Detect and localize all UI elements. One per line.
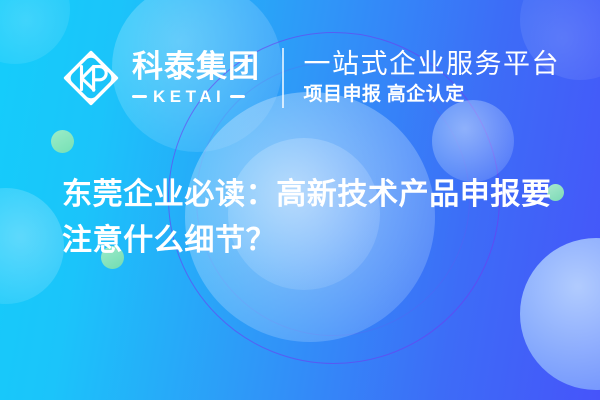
header-divider — [282, 48, 284, 108]
headline-title: 东莞企业必读：高新技术产品申报要注意什么细节？ — [62, 172, 562, 263]
ketai-kp-diamond-logo-icon — [62, 49, 120, 107]
wordmark-rule-left — [132, 95, 147, 98]
wordmark: 科泰集团 KETAI — [132, 51, 260, 105]
company-name-cn: 科泰集团 — [132, 51, 260, 82]
tagline-block: 一站式企业服务平台 项目申报 高企认定 — [304, 49, 561, 107]
tagline-sub: 项目申报 高企认定 — [304, 84, 561, 107]
decor-circle-left-edge — [0, 188, 64, 304]
company-name-en-row: KETAI — [132, 88, 260, 105]
wordmark-rule-right — [230, 95, 245, 98]
decor-dot-green-upper-left — [51, 130, 74, 153]
company-name-en: KETAI — [153, 88, 225, 105]
promo-banner: 科泰集团 KETAI 一站式企业服务平台 项目申报 高企认定 东莞企业必读：高新… — [0, 0, 600, 400]
decor-circle-top-left-faint — [0, 0, 70, 64]
tagline-main: 一站式企业服务平台 — [304, 49, 561, 79]
banner-header: 科泰集团 KETAI 一站式企业服务平台 项目申报 高企认定 — [62, 40, 560, 116]
